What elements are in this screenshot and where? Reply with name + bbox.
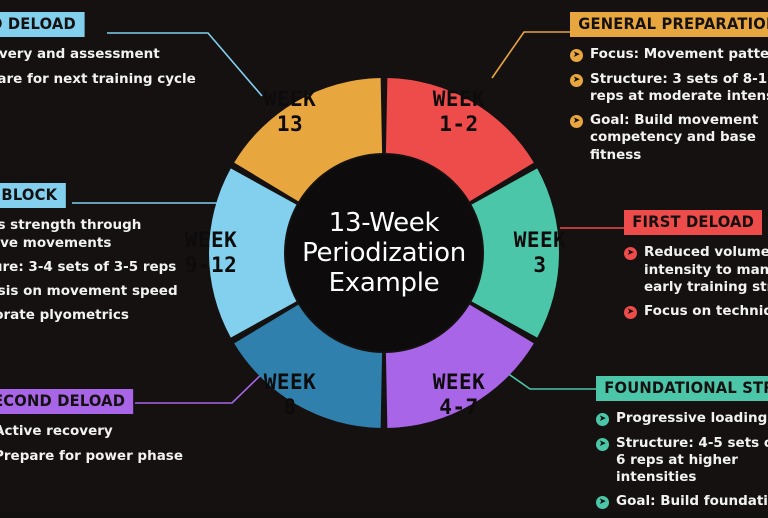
bullet-text: Focus: Movement patterns and work capaci…: [590, 46, 768, 63]
callout-title-foundational-strength-phase: FOUNDATIONAL STRENGTH PHASE: [596, 376, 768, 401]
list-item: ➤ Focus on technique refinement: [624, 303, 768, 320]
bullet-text: Incorporate plyometrics: [0, 307, 129, 324]
chevron-right-icon: ➤: [596, 438, 609, 451]
callout-bullets-foundational-strength-phase: ➤ Progressive loading ➤ Structure: 4-5 s…: [596, 410, 768, 510]
chevron-right-icon: ➤: [624, 306, 637, 319]
list-item: ➤ Goal: Build movement competency and ba…: [570, 112, 768, 164]
list-item: ➤ Structure: 3-4 sets of 3-5 reps: [0, 259, 226, 276]
list-item: ➤ Focus: Movement patterns and work capa…: [570, 46, 768, 63]
callout-title-first-deload: FIRST DELOAD: [624, 210, 762, 235]
callout-title-third-deload: THIRD DELOAD: [0, 12, 84, 37]
bullet-text: Recovery and assessment: [0, 46, 160, 63]
bullet-text: Structure: 3-4 sets of 3-5 reps: [0, 259, 176, 276]
list-item: ➤ Reduced volume and intensity to manage…: [624, 244, 768, 296]
connector-general-prep: [492, 32, 572, 78]
callout-title-power-block: POWER BLOCK: [0, 183, 65, 208]
donut-center-hub: [286, 155, 482, 351]
chevron-right-icon: ➤: [570, 115, 583, 128]
chevron-right-icon: ➤: [624, 247, 637, 260]
list-item: ➤ Prepare for power phase: [0, 448, 274, 465]
callout-foundational-strength-phase: FOUNDATIONAL STRENGTH PHASE ➤ Progressiv…: [596, 376, 768, 518]
bullet-text: Focus on technique refinement: [644, 303, 768, 320]
infographic-canvas: WEEK1-2WEEK3WEEK4-7WEEK8WEEK9-12WEEK13 1…: [0, 0, 768, 512]
callout-bullets-power-block: ➤ Express strength through explosive mov…: [0, 217, 226, 324]
callout-second-deload: SECOND DELOAD ➤ Active recovery ➤ Prepar…: [0, 389, 274, 472]
connector-foundational: [500, 368, 598, 389]
callout-bullets-third-deload: ➤ Recovery and assessment ➤ Prepare for …: [0, 46, 242, 88]
bullet-text: Structure: 4-5 sets of 4-6 reps at highe…: [616, 435, 768, 487]
callout-title-second-deload: SECOND DELOAD: [0, 389, 133, 414]
bullet-text: Emphasis on movement speed: [0, 283, 178, 300]
callout-bullets-first-deload: ➤ Reduced volume and intensity to manage…: [624, 244, 768, 320]
callout-power-block: POWER BLOCK ➤ Express strength through e…: [0, 183, 226, 332]
bullet-text: Prepare for next training cycle: [0, 71, 196, 88]
callout-third-deload: THIRD DELOAD ➤ Recovery and assessment ➤…: [0, 12, 242, 95]
donut-segment[interactable]: [472, 168, 559, 337]
bullet-text: Reduced volume and intensity to manage e…: [644, 244, 768, 296]
bullet-text: Goal: Build foundational strength: [616, 493, 768, 510]
list-item: ➤ Structure: 4-5 sets of 4-6 reps at hig…: [596, 435, 768, 487]
chevron-right-icon: ➤: [596, 413, 609, 426]
chevron-right-icon: ➤: [570, 74, 583, 87]
list-item: ➤ Goal: Build foundational strength: [596, 493, 768, 510]
callout-bullets-general-preparation-phase: ➤ Focus: Movement patterns and work capa…: [570, 46, 768, 164]
bullet-text: Active recovery: [0, 423, 113, 440]
chevron-right-icon: ➤: [570, 49, 583, 62]
callout-first-deload: FIRST DELOAD ➤ Reduced volume and intens…: [624, 210, 768, 327]
callout-general-preparation-phase: GENERAL PREPARATION PHASE ➤ Focus: Movem…: [570, 12, 768, 171]
bullet-text: Goal: Build movement competency and base…: [590, 112, 768, 164]
bullet-text: Express strength through explosive movem…: [0, 217, 156, 252]
list-item: ➤ Express strength through explosive mov…: [0, 217, 226, 252]
list-item: ➤ Emphasis on movement speed: [0, 283, 226, 300]
callout-title-general-preparation-phase: GENERAL PREPARATION PHASE: [570, 12, 768, 37]
bullet-text: Prepare for power phase: [0, 448, 183, 465]
list-item: ➤ Prepare for next training cycle: [0, 71, 242, 88]
list-item: ➤ Recovery and assessment: [0, 46, 242, 63]
bullet-text: Progressive loading: [616, 410, 767, 427]
callout-bullets-second-deload: ➤ Active recovery ➤ Prepare for power ph…: [0, 423, 274, 465]
chevron-right-icon: ➤: [596, 496, 609, 509]
list-item: ➤ Progressive loading: [596, 410, 768, 427]
list-item: ➤ Active recovery: [0, 423, 274, 440]
list-item: ➤ Incorporate plyometrics: [0, 307, 226, 324]
bullet-text: Structure: 3 sets of 8-12 reps at modera…: [590, 71, 768, 106]
list-item: ➤ Structure: 3 sets of 8-12 reps at mode…: [570, 71, 768, 106]
